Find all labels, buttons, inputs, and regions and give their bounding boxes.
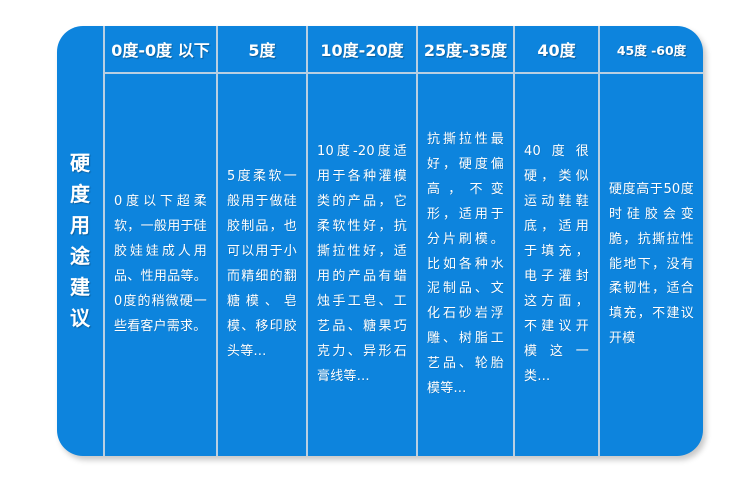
table-cell-0-degrees: 0度以下超柔软，一般用于硅胶娃娃成人用品、性用品等。0度的稍微硬一些看客户需求。	[105, 74, 216, 456]
table-column-45-60-degrees: 45度 -60度 硬度高于50度时硅胶会变脆，抗撕拉性能地下，没有柔韧性，适合填…	[600, 26, 703, 456]
screenshot-canvas: 硬度用途建议 0度-0度 以下 0度以下超柔软，一般用于硅胶娃娃成人用品、性用品…	[0, 0, 750, 483]
table-column-5-degrees: 5度 5度柔软一般用于做硅胶制品，也可以用于小而精细的翻糖模、皂模、移印胶头等…	[218, 26, 308, 456]
cell-text-0-degrees: 0度以下超柔软，一般用于硅胶娃娃成人用品、性用品等。0度的稍微硬一些看客户需求。	[114, 190, 207, 340]
table-column-10-20-degrees: 10度-20度 10度-20度适用于各种灌模类的产品，它柔软性好，抗撕拉性好，适…	[308, 26, 418, 456]
table-cell-10-20-degrees: 10度-20度适用于各种灌模类的产品，它柔软性好，抗撕拉性好，适用的产品有蜡烛手…	[308, 74, 416, 456]
table-cell-40-degrees: 40度很硬，类似运动鞋鞋底，适用于填充，电子灌封这方面，不建议开模这一类…	[515, 74, 598, 456]
cell-text-10-20-degrees: 10度-20度适用于各种灌模类的产品，它柔软性好，抗撕拉性好，适用的产品有蜡烛手…	[317, 140, 407, 390]
cell-text-40-degrees: 40度很硬，类似运动鞋鞋底，适用于填充，电子灌封这方面，不建议开模这一类…	[524, 140, 589, 390]
table-columns: 0度-0度 以下 0度以下超柔软，一般用于硅胶娃娃成人用品、性用品等。0度的稍微…	[105, 26, 703, 456]
table-column-25-35-degrees: 25度-35度 抗撕拉性最好，硬度偏高，不变形，适用于分片刷模。比如各种水泥制品…	[418, 26, 515, 456]
table-column-40-degrees: 40度 40度很硬，类似运动鞋鞋底，适用于填充，电子灌封这方面，不建议开模这一类…	[515, 26, 600, 456]
column-header-0-degrees: 0度-0度 以下	[105, 26, 216, 74]
cell-text-25-35-degrees: 抗撕拉性最好，硬度偏高，不变形，适用于分片刷模。比如各种水泥制品、文化石砂岩浮雕…	[427, 128, 504, 402]
table-cell-25-35-degrees: 抗撕拉性最好，硬度偏高，不变形，适用于分片刷模。比如各种水泥制品、文化石砂岩浮雕…	[418, 74, 513, 456]
cell-text-45-60-degrees: 硬度高于50度时硅胶会变脆，抗撕拉性能地下，没有柔韧性，适合填充，不建议开模	[609, 178, 694, 353]
table-cell-45-60-degrees: 硬度高于50度时硅胶会变脆，抗撕拉性能地下，没有柔韧性，适合填充，不建议开模	[600, 74, 703, 456]
row-header-hardness-usage: 硬度用途建议	[57, 26, 105, 456]
table-column-0-degrees: 0度-0度 以下 0度以下超柔软，一般用于硅胶娃娃成人用品、性用品等。0度的稍微…	[105, 26, 218, 456]
column-header-5-degrees: 5度	[218, 26, 306, 74]
column-header-40-degrees: 40度	[515, 26, 598, 74]
column-header-25-35-degrees: 25度-35度	[418, 26, 513, 74]
column-header-45-60-degrees: 45度 -60度	[600, 26, 703, 74]
hardness-usage-table: 硬度用途建议 0度-0度 以下 0度以下超柔软，一般用于硅胶娃娃成人用品、性用品…	[57, 26, 703, 456]
cell-text-5-degrees: 5度柔软一般用于做硅胶制品，也可以用于小而精细的翻糖模、皂模、移印胶头等…	[227, 165, 297, 365]
table-cell-5-degrees: 5度柔软一般用于做硅胶制品，也可以用于小而精细的翻糖模、皂模、移印胶头等…	[218, 74, 306, 456]
row-header-label: 硬度用途建议	[67, 148, 93, 334]
column-header-10-20-degrees: 10度-20度	[308, 26, 416, 74]
